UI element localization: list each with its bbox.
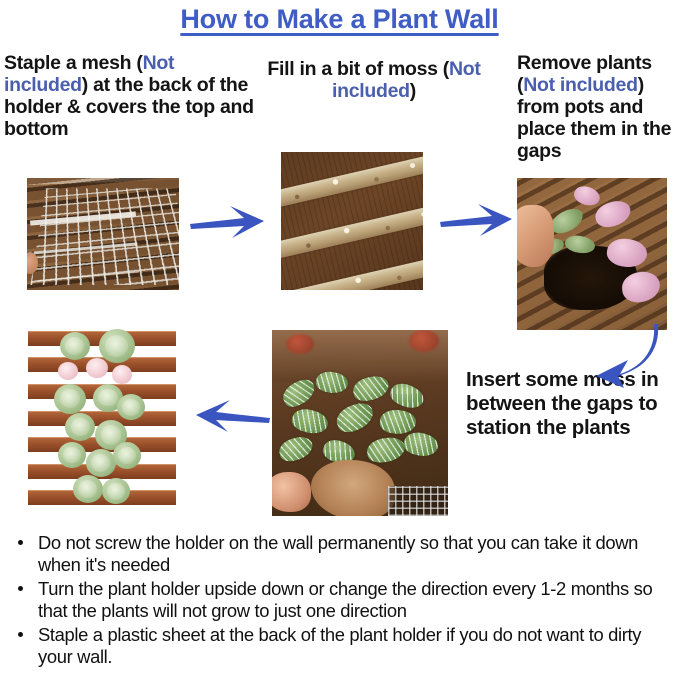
step-1-caption: Staple a mesh (Not included) at the back…	[4, 52, 262, 140]
photo-moss-between-plants	[272, 330, 448, 516]
bullet-dot-icon	[18, 586, 23, 591]
tips-list: Do not screw the holder on the wall perm…	[10, 532, 672, 670]
page-title: How to Make a Plant Wall	[0, 4, 679, 35]
bullet-dot-icon	[18, 540, 23, 545]
arrow-step4-to-finished	[190, 394, 272, 440]
tip-text: Do not screw the holder on the wall perm…	[38, 532, 638, 575]
arrow-step1-to-step2	[188, 200, 268, 246]
photo-mesh-stapled-on-holder	[27, 178, 179, 290]
list-item: Do not screw the holder on the wall perm…	[38, 532, 672, 576]
arrow-step2-to-step3	[438, 198, 516, 244]
photo-moss-in-slat-gaps	[281, 152, 423, 290]
step-3-caption: Remove plants (Not included) from pots a…	[517, 52, 679, 162]
tip-text: Staple a plastic sheet at the back of th…	[38, 624, 641, 667]
step-1-caption-part-1: Staple a mesh (	[4, 52, 143, 74]
photo-finished-plant-wall	[22, 325, 182, 515]
photo-placing-plants-in-gaps	[517, 178, 667, 330]
step-2-caption-part-1: Fill in a bit of moss (	[267, 58, 449, 80]
step-2-caption: Fill in a bit of moss (Not included)	[262, 58, 486, 102]
step-2-caption-part-3: )	[410, 80, 416, 102]
tip-text: Turn the plant holder upside down or cha…	[38, 578, 652, 621]
list-item: Staple a plastic sheet at the back of th…	[38, 624, 672, 668]
list-item: Turn the plant holder upside down or cha…	[38, 578, 672, 622]
infographic-page: How to Make a Plant Wall Staple a mesh (…	[0, 0, 679, 680]
bullet-dot-icon	[18, 632, 23, 637]
step-3-not-included-note: Not included	[523, 74, 637, 96]
arrow-step3-to-step4	[562, 322, 662, 388]
